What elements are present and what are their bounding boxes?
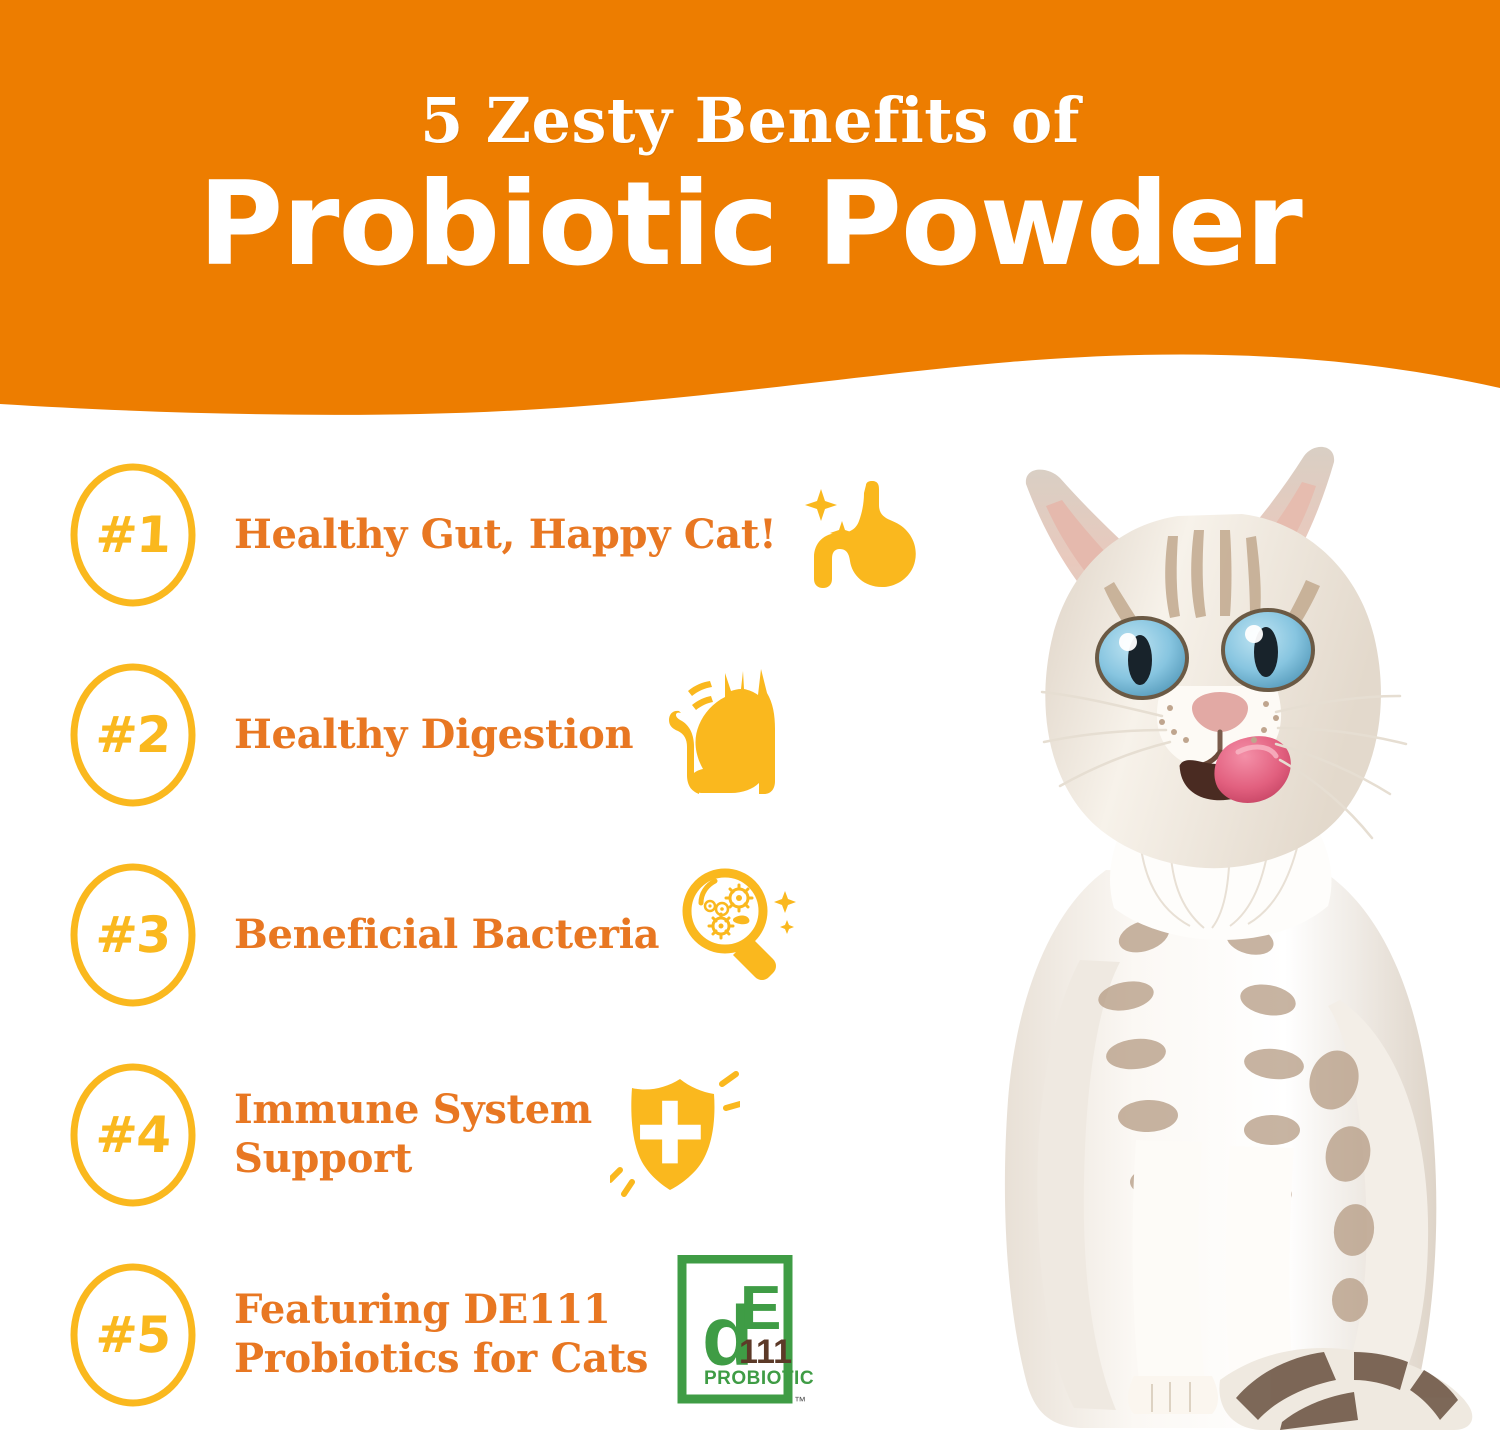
cat-eye-right [1223,610,1313,690]
benefit-body-1: Healthy Gut, Happy Cat! [234,475,924,595]
badge-3: #3 [68,861,198,1009]
cat-body [1005,820,1472,1430]
benefit-row-3: #3 Beneficial Bacteria [0,835,940,1035]
badge-4: #4 [68,1061,198,1209]
de111-probiotic-logo: d E 111 PROBIOTIC ™ [676,1255,818,1415]
badge-number-1: #1 [64,461,202,609]
benefit-row-5: #5 Featuring DE111 Probiotics for Cats d… [0,1235,940,1435]
sitting-cat-silhouette-icon [651,663,776,808]
stomach-gut-icon [794,475,924,595]
shield-plus-icon [610,1070,740,1200]
benefit-label-2: Healthy Digestion [234,711,633,760]
benefit-row-1: #1 Healthy Gut, Happy Cat! [0,435,940,635]
benefits-list: #1 Healthy Gut, Happy Cat! [0,430,940,1445]
badge-number-2: #2 [64,661,202,809]
infographic-page: 5 Zesty Benefits of Probiotic Powder #1 … [0,0,1500,1445]
magnifying-glass-bacteria-icon [677,863,807,1008]
de111-subtitle: PROBIOTIC [704,1368,814,1389]
header-banner: 5 Zesty Benefits of Probiotic Powder [0,0,1500,430]
benefit-row-2: #2 Healthy Digestion [0,635,940,835]
badge-1: #1 [68,461,198,609]
benefit-body-2: Healthy Digestion [234,663,776,808]
de111-trademark: ™ [794,1394,806,1408]
benefit-label-5: Featuring DE111 Probiotics for Cats [234,1286,648,1384]
badge-number-5: #5 [64,1261,202,1409]
benefit-body-5: Featuring DE111 Probiotics for Cats d E … [234,1255,818,1415]
badge-number-4: #4 [64,1061,202,1209]
badge-2: #2 [68,661,198,809]
banner-wave-shape [0,0,1500,430]
cat-eye-left [1097,618,1187,698]
benefit-body-4: Immune System Support [234,1070,740,1200]
benefit-label-4: Immune System Support [234,1086,592,1184]
badge-number-3: #3 [64,861,202,1009]
benefit-row-4: #4 Immune System Support [0,1035,940,1235]
cat-head [1026,447,1406,868]
benefit-body-3: Beneficial Bacteria [234,863,807,1008]
benefit-label-1: Healthy Gut, Happy Cat! [234,511,776,560]
de111-number: 111 [739,1333,792,1371]
badge-5: #5 [68,1261,198,1409]
cat-photo [930,440,1500,1445]
benefit-label-3: Beneficial Bacteria [234,911,659,960]
